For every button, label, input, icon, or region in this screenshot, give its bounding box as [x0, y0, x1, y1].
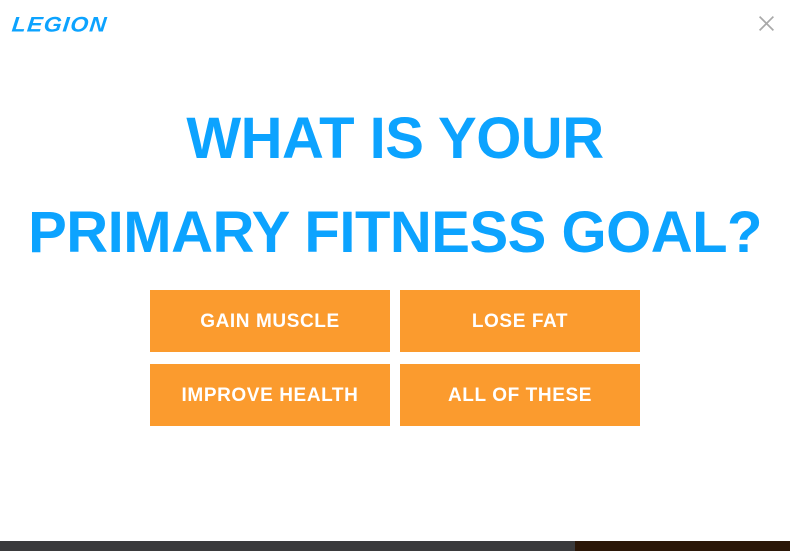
- quiz-content: WHAT IS YOUR PRIMARY FITNESS GOAL? GAIN …: [0, 0, 790, 541]
- strip-segment-dark: [0, 541, 575, 551]
- question-line-2: PRIMARY FITNESS GOAL?: [28, 209, 762, 256]
- answer-button-all-of-these[interactable]: ALL OF THESE: [400, 364, 640, 426]
- answer-button-improve-health[interactable]: IMPROVE HEALTH: [150, 364, 390, 426]
- answer-button-gain-muscle[interactable]: GAIN MUSCLE: [150, 290, 390, 352]
- quiz-modal: LEGION WHAT IS YOUR PRIMARY FITNESS GOAL…: [0, 0, 790, 541]
- page-bottom-strip: [0, 541, 790, 551]
- page-title: WHAT IS YOUR PRIMARY FITNESS GOAL?: [28, 115, 762, 286]
- answer-options-grid: GAIN MUSCLE LOSE FAT IMPROVE HEALTH ALL …: [150, 290, 640, 426]
- answer-button-lose-fat[interactable]: LOSE FAT: [400, 290, 640, 352]
- question-line-1: WHAT IS YOUR: [28, 115, 762, 162]
- strip-segment-brown: [575, 541, 790, 551]
